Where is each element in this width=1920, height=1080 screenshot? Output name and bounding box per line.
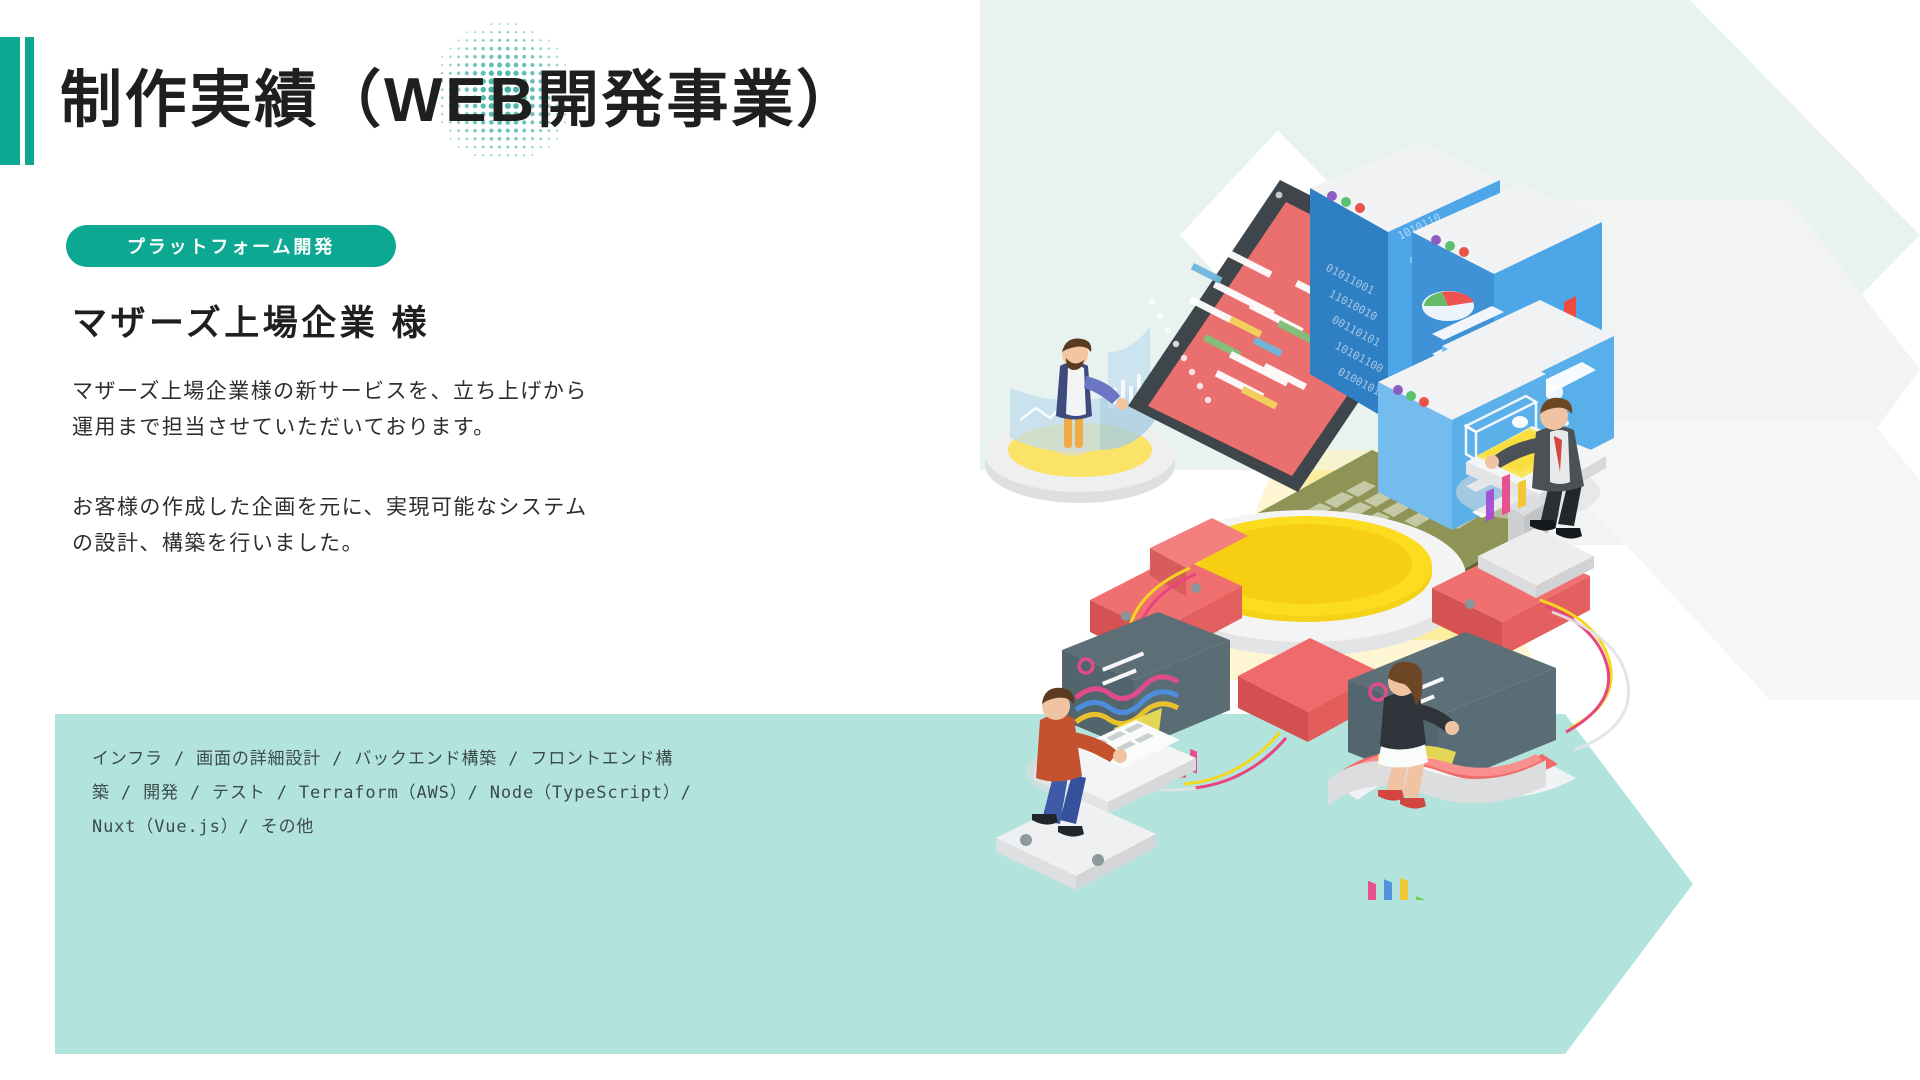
client-name: マザーズ上場企業 様 <box>72 295 786 346</box>
category-badge: プラットフォーム開発 <box>66 225 396 267</box>
tech-stack-line-3: Nuxt（Vue.js）/ その他 <box>92 810 812 844</box>
chevron-gray-lower <box>1500 420 1920 700</box>
tech-stack-list: インフラ / 画面の詳細設計 / バックエンド構築 / フロントエンド構 築 /… <box>92 742 812 844</box>
description-paragraph-1: マザーズ上場企業様の新サービスを、立ち上げから 運用まで担当させていただいており… <box>72 374 786 446</box>
description-paragraph-1-line-1: マザーズ上場企業様の新サービスを、立ち上げから <box>72 374 786 410</box>
description-paragraph-1-line-2: 運用まで担当させていただいております。 <box>72 410 786 446</box>
page-header: 制作実績（WEB開発事業） <box>0 28 861 173</box>
case-study-content: プラットフォーム開発 マザーズ上場企業 様 マザーズ上場企業様の新サービスを、立… <box>66 225 786 562</box>
tech-band-arrow-tip <box>1565 714 1693 1054</box>
accent-bar-thick <box>0 37 20 165</box>
description-paragraph-2: お客様の作成した企画を元に、実現可能なシステム の設計、構築を行いました。 <box>72 490 786 562</box>
accent-bar-thin <box>25 37 34 165</box>
accent-bar <box>0 37 34 165</box>
page-title: 制作実績（WEB開発事業） <box>60 70 861 132</box>
tech-stack-line-1: インフラ / 画面の詳細設計 / バックエンド構築 / フロントエンド構 <box>92 742 812 776</box>
description-paragraph-2-line-1: お客様の作成した企画を元に、実現可能なシステム <box>72 490 786 526</box>
tech-stack-line-2: 築 / 開発 / テスト / Terraform（AWS）/ Node（Type… <box>92 776 812 810</box>
description-paragraph-2-line-2: の設計、構築を行いました。 <box>72 526 786 562</box>
